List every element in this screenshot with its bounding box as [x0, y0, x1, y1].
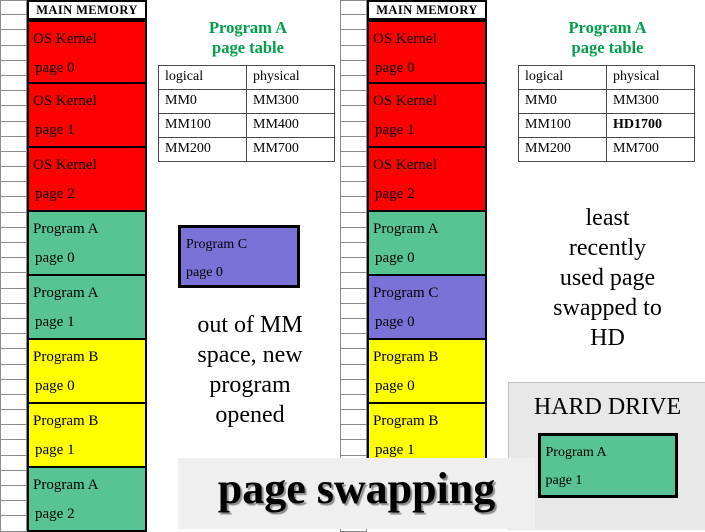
left-memory-blocks: OS Kernelpage 0OS Kernelpage 1OS Kernelp… — [27, 20, 147, 532]
memory-block-line1: Program B — [373, 407, 485, 436]
memory-address-cell — [0, 440, 27, 455]
right-page-table-title-line1: Program A — [515, 18, 700, 38]
memory-address-cell — [340, 349, 367, 364]
page-table-cell: MM0 — [159, 90, 247, 114]
right-page-table: logicalphysicalMM0MM300MM100HD1700MM200M… — [518, 65, 695, 162]
memory-address-cell — [340, 76, 367, 91]
memory-block-line1: OS Kernel — [373, 87, 485, 116]
memory-block-line2: page 2 — [33, 500, 145, 529]
memory-block-line2: page 0 — [33, 244, 145, 273]
memory-address-cell — [340, 30, 367, 45]
memory-address-cell — [340, 334, 367, 349]
memory-address-cell — [340, 228, 367, 243]
memory-address-cell — [340, 197, 367, 212]
memory-block: OS Kernelpage 1 — [27, 84, 147, 148]
right-page-table-title: Program A page table — [515, 18, 700, 58]
new-program-page-box: Program C page 0 — [178, 225, 300, 288]
memory-address-cell — [0, 273, 27, 288]
memory-address-cell — [340, 15, 367, 30]
page-table-row: MM200MM700 — [519, 138, 695, 162]
memory-address-cell — [0, 395, 27, 410]
memory-address-cell — [0, 228, 27, 243]
memory-address-cell — [340, 273, 367, 288]
memory-address-cell — [0, 243, 27, 258]
page-table-cell: MM200 — [519, 138, 607, 162]
page-table-cell: MM300 — [607, 90, 695, 114]
page-swapping-banner-text: page swapping — [178, 458, 535, 520]
memory-address-cell — [340, 319, 367, 334]
caption-line: recently — [515, 233, 700, 263]
new-program-page-box-line1: Program C — [186, 231, 297, 259]
caption-line: used page — [515, 263, 700, 293]
hard-drive-page-box-line1: Program A — [546, 439, 675, 467]
memory-block-line1: Program B — [33, 407, 145, 436]
memory-address-cell — [0, 137, 27, 152]
left-address-cells — [0, 0, 27, 532]
caption-line: program — [165, 370, 335, 400]
memory-address-cell — [0, 182, 27, 197]
memory-address-cell — [0, 380, 27, 395]
memory-address-cell — [340, 182, 367, 197]
memory-address-cell — [0, 30, 27, 45]
memory-address-cell — [0, 213, 27, 228]
memory-address-cell — [0, 334, 27, 349]
memory-address-cell — [340, 425, 367, 440]
memory-block-line2: page 1 — [33, 116, 145, 145]
page-table-row: MM0MM300 — [519, 90, 695, 114]
memory-address-cell — [0, 410, 27, 425]
memory-address-cell — [0, 122, 27, 137]
memory-block-line1: Program A — [373, 215, 485, 244]
memory-address-cell — [0, 304, 27, 319]
memory-address-cell — [340, 91, 367, 106]
new-program-page-box-line2: page 0 — [186, 259, 297, 287]
page-swapping-banner: page swapping — [178, 458, 535, 529]
memory-address-cell — [0, 425, 27, 440]
memory-block-line2: page 2 — [33, 180, 145, 209]
memory-address-cell — [340, 0, 367, 15]
memory-address-cell — [340, 46, 367, 61]
page-table-header-row: logicalphysical — [159, 66, 335, 90]
memory-block: Program Bpage 0 — [367, 340, 487, 404]
page-table-cell: MM300 — [247, 90, 335, 114]
memory-address-cell — [0, 167, 27, 182]
memory-block-line2: page 0 — [373, 54, 485, 83]
memory-address-cell — [340, 440, 367, 455]
caption-line: least — [515, 203, 700, 233]
memory-block: OS Kernelpage 2 — [27, 148, 147, 212]
page-table-cell: HD1700 — [607, 114, 695, 138]
page-table-header-cell: logical — [519, 66, 607, 90]
memory-block-line1: OS Kernel — [33, 151, 145, 180]
left-page-table-title-line1: Program A — [158, 18, 338, 38]
memory-address-cell — [340, 61, 367, 76]
memory-address-cell — [0, 349, 27, 364]
caption-line: space, new — [165, 340, 335, 370]
memory-address-cell — [0, 197, 27, 212]
memory-address-cell — [340, 122, 367, 137]
memory-address-cell — [340, 365, 367, 380]
right-address-cells — [340, 0, 367, 532]
memory-address-cell — [340, 213, 367, 228]
page-table-row: MM100HD1700 — [519, 114, 695, 138]
right-caption: leastrecentlyused pageswapped toHD — [515, 203, 700, 353]
memory-address-cell — [0, 0, 27, 15]
caption-line: out of MM — [165, 310, 335, 340]
memory-address-cell — [0, 46, 27, 61]
page-table-row: MM0MM300 — [159, 90, 335, 114]
memory-address-cell — [340, 304, 367, 319]
memory-address-cell — [0, 91, 27, 106]
page-table-row: MM200MM700 — [159, 138, 335, 162]
memory-block: Program Bpage 0 — [27, 340, 147, 404]
memory-block: Program Apage 0 — [27, 212, 147, 276]
memory-block: Program Apage 1 — [27, 276, 147, 340]
memory-block: Program Cpage 0 — [367, 276, 487, 340]
memory-block: OS Kernelpage 0 — [27, 20, 147, 84]
page-table-cell: MM400 — [247, 114, 335, 138]
memory-address-cell — [340, 106, 367, 121]
memory-block-line2: page 0 — [373, 308, 485, 337]
hard-drive-page-box: Program A page 1 — [538, 433, 678, 498]
memory-block-line2: page 0 — [33, 372, 145, 401]
caption-line: HD — [515, 323, 700, 353]
memory-block-line2: page 1 — [373, 116, 485, 145]
memory-address-cell — [0, 319, 27, 334]
right-main-memory-header: MAIN MEMORY — [367, 0, 487, 20]
memory-block: Program Apage 2 — [27, 468, 147, 532]
memory-address-cell — [340, 137, 367, 152]
memory-block-line1: Program A — [33, 279, 145, 308]
memory-block: OS Kernelpage 1 — [367, 84, 487, 148]
page-table-cell: MM200 — [159, 138, 247, 162]
page-table-header-cell: physical — [247, 66, 335, 90]
hard-drive-panel: HARD DRIVE Program A page 1 — [508, 382, 705, 530]
memory-address-cell — [0, 501, 27, 516]
memory-block-line2: page 1 — [33, 308, 145, 337]
memory-address-cell — [340, 395, 367, 410]
memory-address-cell — [0, 471, 27, 486]
caption-line: opened — [165, 400, 335, 430]
right-memory-blocks: OS Kernelpage 0OS Kernelpage 1OS Kernelp… — [367, 20, 487, 468]
left-page-table-title-line2: page table — [158, 38, 338, 58]
memory-block-line2: page 2 — [373, 180, 485, 209]
page-table-cell: MM700 — [247, 138, 335, 162]
memory-address-cell — [0, 289, 27, 304]
hard-drive-title: HARD DRIVE — [509, 391, 705, 423]
page-table-header-cell: physical — [607, 66, 695, 90]
memory-block-line2: page 1 — [33, 436, 145, 465]
memory-address-cell — [340, 243, 367, 258]
memory-block-line1: OS Kernel — [373, 151, 485, 180]
memory-block: OS Kernelpage 0 — [367, 20, 487, 84]
memory-address-cell — [0, 15, 27, 30]
right-page-table-title-line2: page table — [515, 38, 700, 58]
page-table-header-cell: logical — [159, 66, 247, 90]
memory-block-line2: page 0 — [373, 244, 485, 273]
memory-address-cell — [0, 152, 27, 167]
memory-address-cell — [340, 152, 367, 167]
memory-address-cell — [0, 106, 27, 121]
hard-drive-page-box-line2: page 1 — [546, 467, 675, 495]
left-page-table-title: Program A page table — [158, 18, 338, 58]
page-table-cell: MM700 — [607, 138, 695, 162]
memory-block-line1: OS Kernel — [33, 87, 145, 116]
memory-address-cell — [340, 380, 367, 395]
memory-address-cell — [340, 289, 367, 304]
left-main-memory-header: MAIN MEMORY — [27, 0, 147, 20]
memory-block-line1: OS Kernel — [33, 25, 145, 54]
memory-address-cell — [0, 456, 27, 471]
memory-address-cell — [340, 258, 367, 273]
memory-address-cell — [0, 76, 27, 91]
memory-address-cell — [0, 365, 27, 380]
memory-block: Program Bpage 1 — [27, 404, 147, 468]
caption-line: swapped to — [515, 293, 700, 323]
left-page-table: logicalphysicalMM0MM300MM100MM400MM200MM… — [158, 65, 335, 162]
memory-address-cell — [0, 61, 27, 76]
memory-address-cell — [340, 410, 367, 425]
memory-address-cell — [0, 258, 27, 273]
page-table-header-row: logicalphysical — [519, 66, 695, 90]
page-table-cell: MM100 — [519, 114, 607, 138]
memory-block-line1: Program C — [373, 279, 485, 308]
memory-block-line2: page 0 — [33, 54, 145, 83]
memory-address-cell — [0, 516, 27, 531]
memory-address-cell — [340, 167, 367, 182]
page-table-cell: MM0 — [519, 90, 607, 114]
page-table-row: MM100MM400 — [159, 114, 335, 138]
memory-block-line1: Program A — [33, 215, 145, 244]
memory-block-line1: OS Kernel — [373, 25, 485, 54]
memory-block-line1: Program B — [373, 343, 485, 372]
memory-block-line2: page 0 — [373, 372, 485, 401]
memory-block: Program Apage 0 — [367, 212, 487, 276]
memory-block-line1: Program B — [33, 343, 145, 372]
memory-block: OS Kernelpage 2 — [367, 148, 487, 212]
memory-block-line1: Program A — [33, 471, 145, 500]
memory-address-cell — [0, 486, 27, 501]
page-table-cell: MM100 — [159, 114, 247, 138]
left-caption: out of MMspace, newprogramopened — [165, 310, 335, 430]
